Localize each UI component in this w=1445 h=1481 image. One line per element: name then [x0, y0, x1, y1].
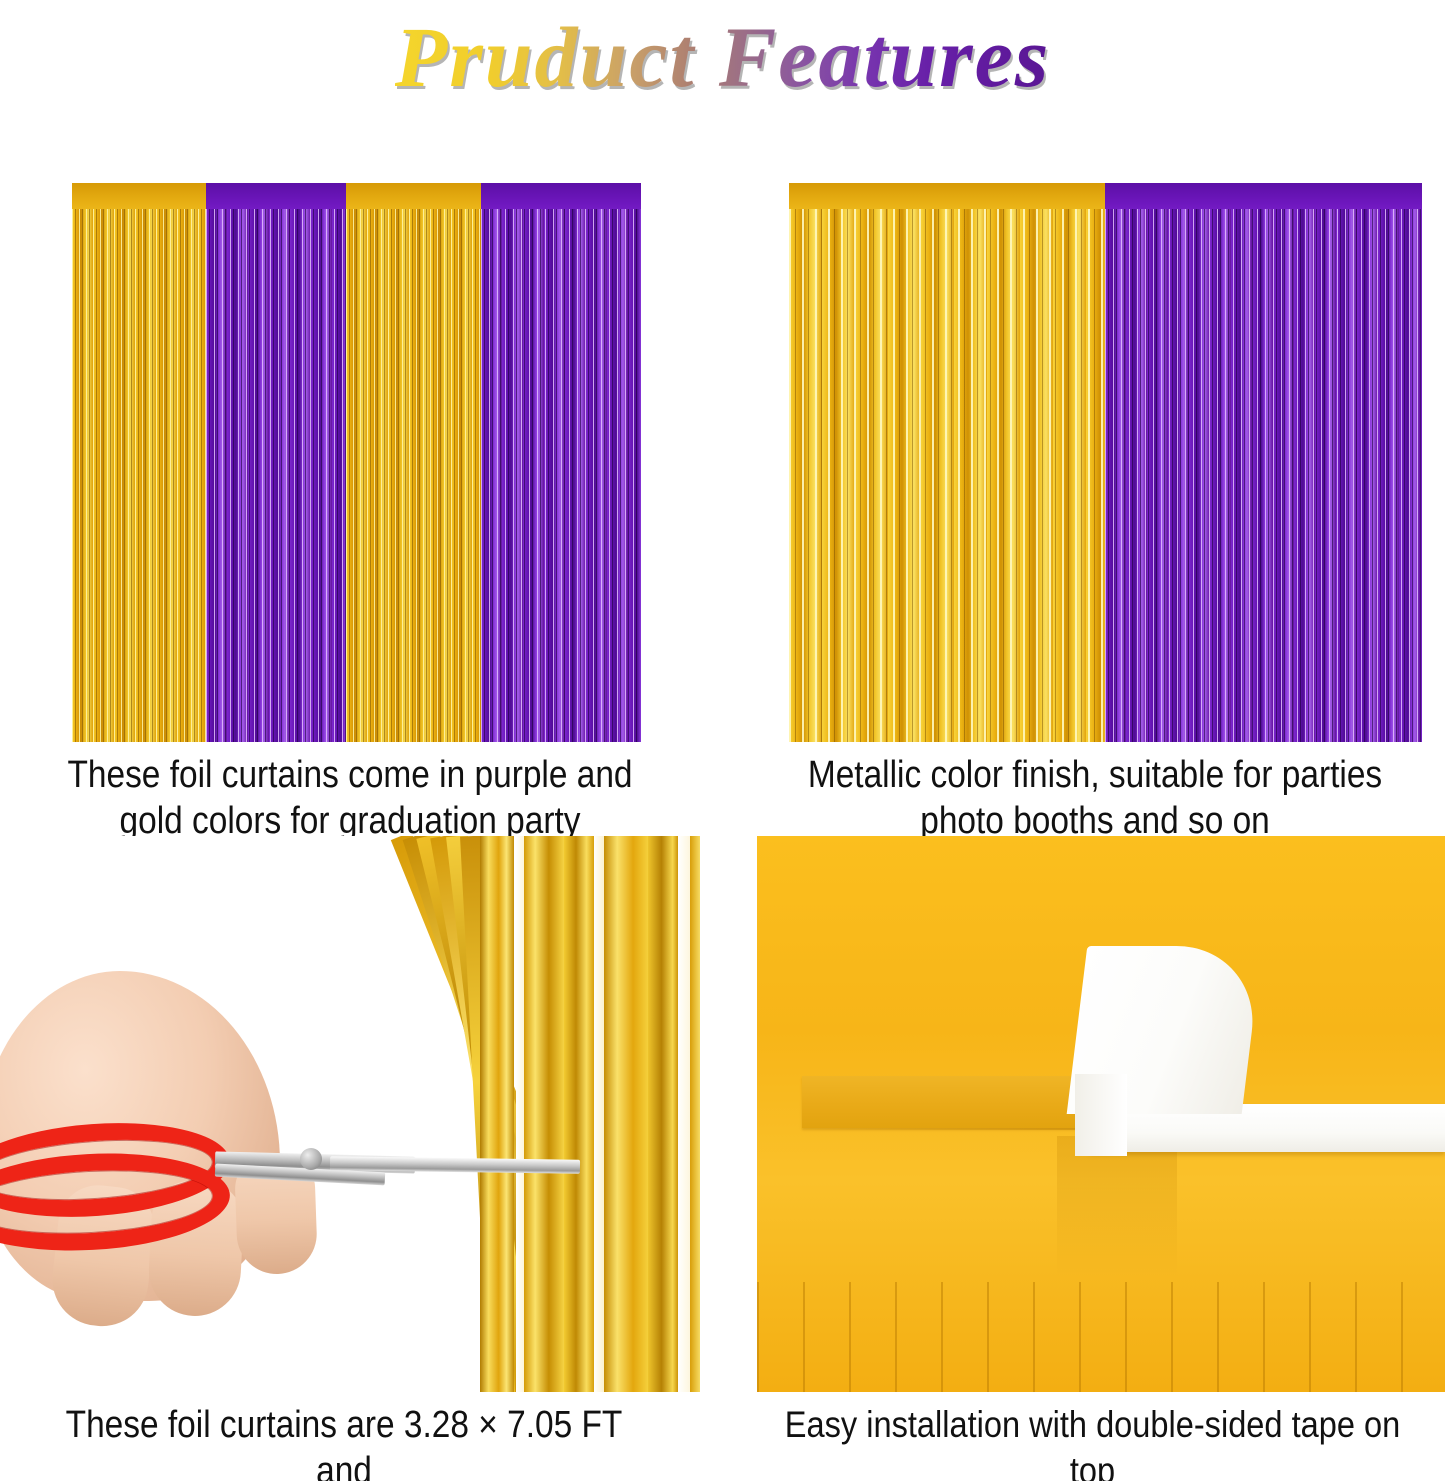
- foil-curtain-two-bands: [789, 183, 1422, 742]
- curtain-band-strands: [346, 209, 481, 742]
- foil-shadow: [1057, 1136, 1177, 1276]
- tape-backing-strip: [802, 1076, 1082, 1128]
- curtain-band-purple-2: [481, 183, 641, 742]
- feature-caption-cut-to-size: These foil curtains are 3.28 × 7.05 FT a…: [50, 1402, 638, 1481]
- curtain-band-gold-wide: [789, 183, 1105, 742]
- tape-curl-edge: [1075, 1074, 1127, 1156]
- foil-strand: [604, 836, 648, 1392]
- curtain-band-strands: [481, 209, 641, 742]
- foil-gap: [516, 836, 524, 1392]
- feature-image-curtain-colors: [72, 183, 641, 742]
- foil-strand: [524, 836, 564, 1392]
- feature-image-cut-to-size: [0, 836, 700, 1392]
- foil-strand: [648, 836, 678, 1392]
- foil-curtain-four-bands: [72, 183, 641, 742]
- curtain-band-gold-1: [72, 183, 206, 742]
- feature-caption-easy-installation: Easy installation with double-sided tape…: [782, 1402, 1402, 1481]
- feature-image-easy-installation: [757, 836, 1445, 1392]
- foil-gap: [594, 836, 604, 1392]
- foil-gap: [678, 836, 690, 1392]
- curtain-band-strands: [72, 209, 206, 742]
- foil-fringe: [757, 1282, 1445, 1392]
- page-title: Pruduct Features: [395, 8, 1051, 106]
- foil-strand: [564, 836, 594, 1392]
- curtain-band-gold-2: [346, 183, 481, 742]
- curtain-band-purple-wide: [1105, 183, 1422, 742]
- feature-image-metallic-finish: [789, 183, 1422, 742]
- foil-strand: [690, 836, 700, 1392]
- curtain-band-strands: [789, 209, 1105, 742]
- feature-caption-metallic-finish: Metallic color finish, suitable for part…: [802, 752, 1388, 844]
- curtain-band-strands: [1105, 209, 1422, 742]
- scissors-pivot: [300, 1148, 322, 1170]
- feature-caption-curtain-colors: These foil curtains come in purple and g…: [60, 752, 641, 844]
- curtain-band-purple-1: [206, 183, 346, 742]
- foil-strand: [480, 836, 514, 1392]
- curtain-band-strands: [206, 209, 346, 742]
- page-title-container: Pruduct Features: [0, 8, 1445, 108]
- product-features-page: Pruduct Features These foil curtains com…: [0, 0, 1445, 1481]
